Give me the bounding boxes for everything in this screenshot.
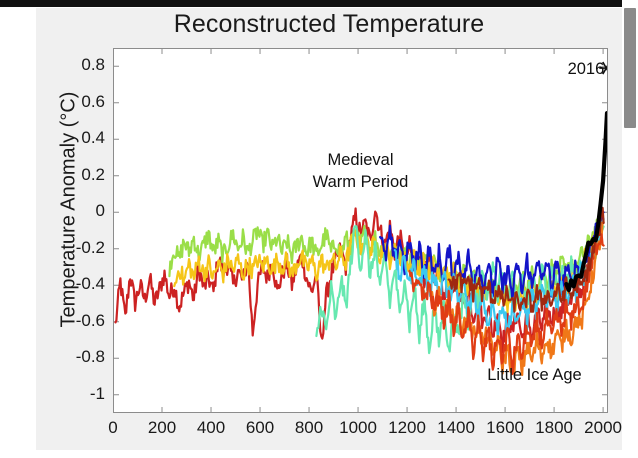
y-tick-label: -1 bbox=[47, 384, 105, 404]
y-tick-label: -0.6 bbox=[47, 311, 105, 331]
vertical-scrollbar[interactable] bbox=[622, 0, 638, 458]
medieval-warm-period-line1: Medieval bbox=[327, 151, 393, 169]
reconstructed-temperature-line-chart: MedievalWarm PeriodLittle Ice Age2016 bbox=[113, 48, 608, 413]
y-tick-label: 0.2 bbox=[47, 165, 105, 185]
plot-area: MedievalWarm PeriodLittle Ice Age2016 02… bbox=[113, 48, 608, 413]
medieval-warm-period-line2: Warm Period bbox=[313, 173, 409, 191]
little-ice-age-label: Little Ice Age bbox=[487, 366, 581, 384]
scrollbar-thumb[interactable] bbox=[624, 8, 636, 128]
document-page: Reconstructed Temperature Temperature An… bbox=[0, 0, 638, 458]
y-tick-label: -0.8 bbox=[47, 347, 105, 367]
page-top-rule bbox=[0, 0, 622, 7]
y-tick-label: 0.4 bbox=[47, 128, 105, 148]
y-tick-label: 0.6 bbox=[47, 92, 105, 112]
y-tick-label: 0 bbox=[47, 201, 105, 221]
chart-title: Reconstructed Temperature bbox=[36, 10, 622, 39]
year-2016-label: 2016 bbox=[568, 60, 605, 78]
y-tick-label: -0.4 bbox=[47, 274, 105, 294]
chart-figure: Reconstructed Temperature Temperature An… bbox=[36, 8, 622, 450]
y-tick-label: 0.8 bbox=[47, 55, 105, 75]
y-tick-label: -0.2 bbox=[47, 238, 105, 258]
